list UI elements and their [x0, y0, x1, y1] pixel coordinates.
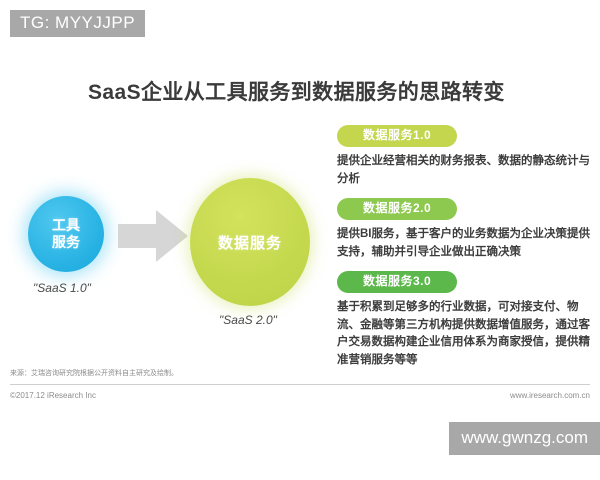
site-url: www.iresearch.com.cn: [510, 391, 590, 400]
list-item-body: 提供BI服务，基于客户的业务数据为企业决策提供支持，辅助并引导企业做出正确决策: [337, 226, 600, 262]
slide-canvas: SaaS企业从工具服务到数据服务的思路转变 工具 服务 "SaaS 1.0" 数…: [0, 0, 600, 480]
copyright-text: ©2017.12 iResearch Inc: [10, 391, 96, 400]
blue-circle: 工具 服务: [28, 196, 104, 272]
node-data-service: 数据服务: [190, 178, 310, 306]
list-item: 数据服务3.0 基于积累到足够多的行业数据，可对接支付、物流、金融等第三方机构提…: [337, 271, 600, 370]
page-title: SaaS企业从工具服务到数据服务的思路转变: [88, 76, 505, 106]
list-item-body: 提供企业经营相关的财务报表、数据的静态统计与分析: [337, 153, 600, 189]
green-circle: 数据服务: [190, 178, 310, 306]
node-data-service-label: 数据服务: [218, 232, 282, 253]
list-item: 数据服务1.0 提供企业经营相关的财务报表、数据的静态统计与分析: [337, 125, 600, 189]
node-tool-service-line2: 服务: [52, 234, 80, 252]
caption-saas-1: "SaaS 1.0": [33, 281, 91, 295]
status-badge: 数据服务2.0: [337, 198, 457, 220]
status-badge: 数据服务1.0: [337, 125, 457, 147]
source-note: 来源：艾瑞咨询研究院根据公开资料自主研究及绘制。: [10, 368, 178, 378]
footer-divider: [10, 384, 590, 385]
right-arrow-icon: [118, 208, 188, 264]
top-watermark: TG: MYYJJPP: [10, 10, 145, 37]
caption-saas-2: "SaaS 2.0": [219, 313, 277, 327]
node-tool-service: 工具 服务: [28, 196, 104, 272]
list-item-body: 基于积累到足够多的行业数据，可对接支付、物流、金融等第三方机构提供数据增值服务，…: [337, 299, 600, 370]
data-service-list: 数据服务1.0 提供企业经营相关的财务报表、数据的静态统计与分析 数据服务2.0…: [337, 125, 600, 379]
bottom-watermark: www.gwnzg.com: [449, 422, 600, 455]
list-item: 数据服务2.0 提供BI服务，基于客户的业务数据为企业决策提供支持，辅助并引导企…: [337, 198, 600, 262]
node-tool-service-line1: 工具: [52, 217, 80, 235]
status-badge: 数据服务3.0: [337, 271, 457, 293]
